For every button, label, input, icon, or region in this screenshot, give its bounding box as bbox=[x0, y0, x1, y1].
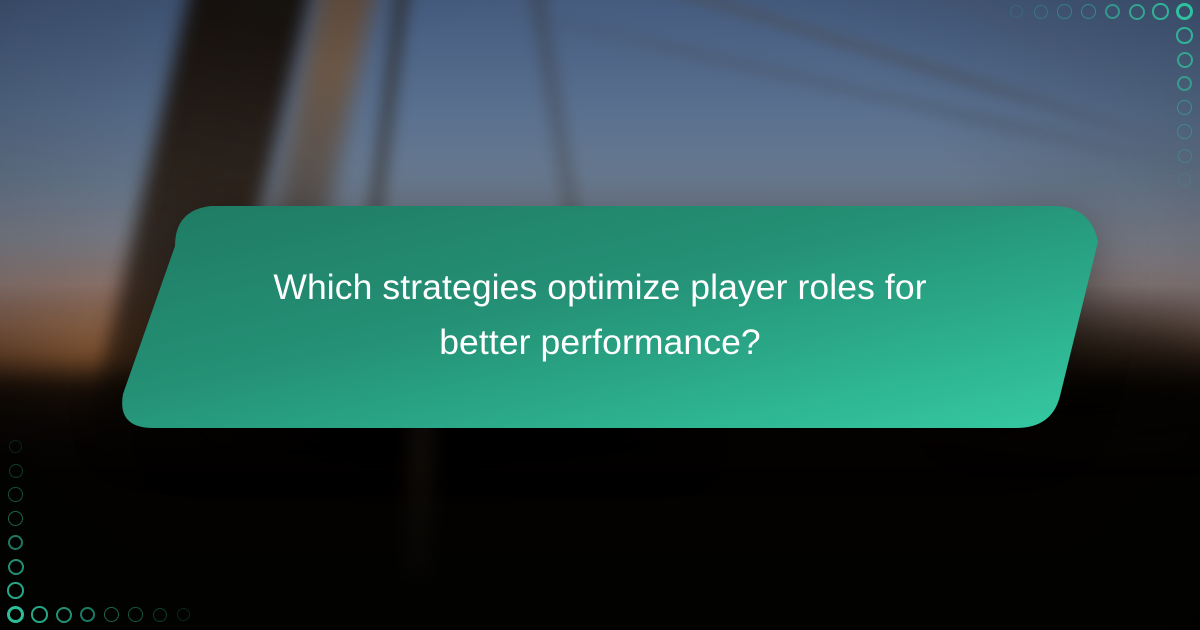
quote-card-canvas: Which strategies optimize player roles f… bbox=[0, 0, 1200, 630]
question-line-2: better performance? bbox=[439, 315, 761, 370]
question-line-1: Which strategies optimize player roles f… bbox=[273, 260, 926, 315]
question-text-block: Which strategies optimize player roles f… bbox=[95, 198, 1105, 432]
question-card: Which strategies optimize player roles f… bbox=[95, 198, 1105, 432]
